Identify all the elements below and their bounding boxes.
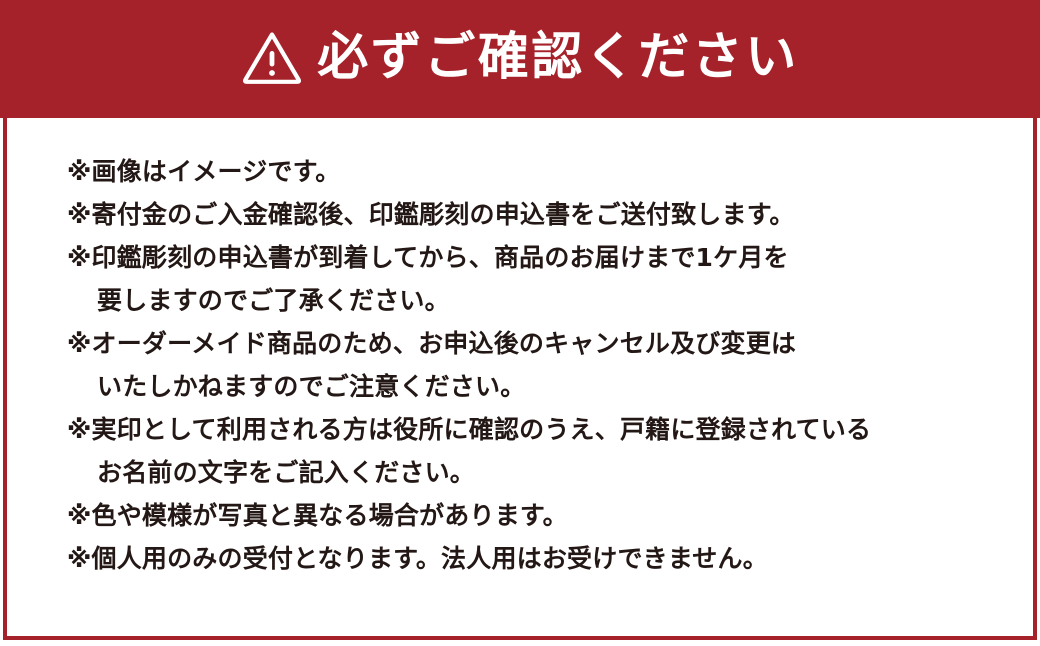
list-item: ※画像はイメージです。 <box>67 150 1013 193</box>
notice-body: ※画像はイメージです。 ※寄付金のご入金確認後、印鑑彫刻の申込書をご送付致します… <box>3 118 1037 640</box>
warning-triangle-icon <box>241 29 303 85</box>
list-item-continuation: 要しますのでご了承ください。 <box>67 279 1013 322</box>
list-item: ※寄付金のご入金確認後、印鑑彫刻の申込書をご送付致します。 <box>67 193 1013 236</box>
list-item-continuation: いたしかねますのでご注意ください。 <box>67 365 1013 408</box>
list-item: ※実印として利用される方は役所に確認のうえ、戸籍に登録されている <box>67 408 1013 451</box>
page-title: 必ずご確認ください <box>317 32 799 83</box>
notice-header-banner: 必ずご確認ください <box>0 0 1040 118</box>
list-item-continuation: お名前の文字をご記入ください。 <box>67 451 1013 494</box>
notice-list: ※画像はイメージです。 ※寄付金のご入金確認後、印鑑彫刻の申込書をご送付致します… <box>67 150 1013 580</box>
notice-card: 必ずご確認ください ※画像はイメージです。 ※寄付金のご入金確認後、印鑑彫刻の申… <box>0 0 1040 646</box>
list-item: ※印鑑彫刻の申込書が到着してから、商品のお届けまで1ケ月を <box>67 236 1013 279</box>
list-item: ※個人用のみの受付となります。法人用はお受けできません。 <box>67 537 1013 580</box>
list-item: ※オーダーメイド商品のため、お申込後のキャンセル及び変更は <box>67 322 1013 365</box>
list-item: ※色や模様が写真と異なる場合があります。 <box>67 494 1013 537</box>
header-inner: 必ずご確認ください <box>241 29 799 85</box>
